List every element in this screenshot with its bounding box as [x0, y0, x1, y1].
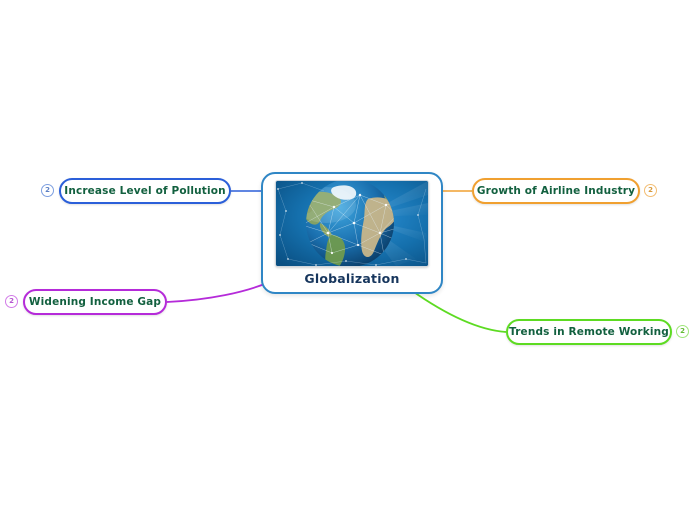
branch-node-income[interactable]: Widening Income Gap: [23, 289, 167, 315]
collapse-badge-pollution-count: 2: [45, 187, 50, 194]
branch-node-remote[interactable]: Trends in Remote Working: [506, 319, 672, 345]
collapse-badge-remote[interactable]: 2: [676, 325, 689, 338]
branch-node-airline[interactable]: Growth of Airline Industry: [472, 178, 640, 204]
central-node-label: Globalization: [304, 273, 399, 286]
collapse-badge-income-count: 2: [9, 298, 14, 305]
branch-node-pollution[interactable]: Increase Level of Pollution: [59, 178, 231, 204]
central-node[interactable]: Globalization: [261, 172, 443, 294]
collapse-badge-pollution[interactable]: 2: [41, 184, 54, 197]
mindmap-canvas[interactable]: Globalization Increase Level of Pollutio…: [0, 0, 696, 520]
earth-globe-network-image: [275, 180, 429, 267]
branch-node-airline-label: Growth of Airline Industry: [463, 186, 649, 197]
collapse-badge-income[interactable]: 2: [5, 295, 18, 308]
branch-node-pollution-label: Increase Level of Pollution: [50, 186, 239, 197]
connector-income: [167, 283, 267, 302]
collapse-badge-remote-count: 2: [680, 328, 685, 335]
branch-node-remote-label: Trends in Remote Working: [495, 327, 683, 338]
collapse-badge-airline-count: 2: [648, 187, 653, 194]
connector-remote: [411, 290, 506, 332]
collapse-badge-airline[interactable]: 2: [644, 184, 657, 197]
branch-node-income-label: Widening Income Gap: [15, 297, 175, 308]
